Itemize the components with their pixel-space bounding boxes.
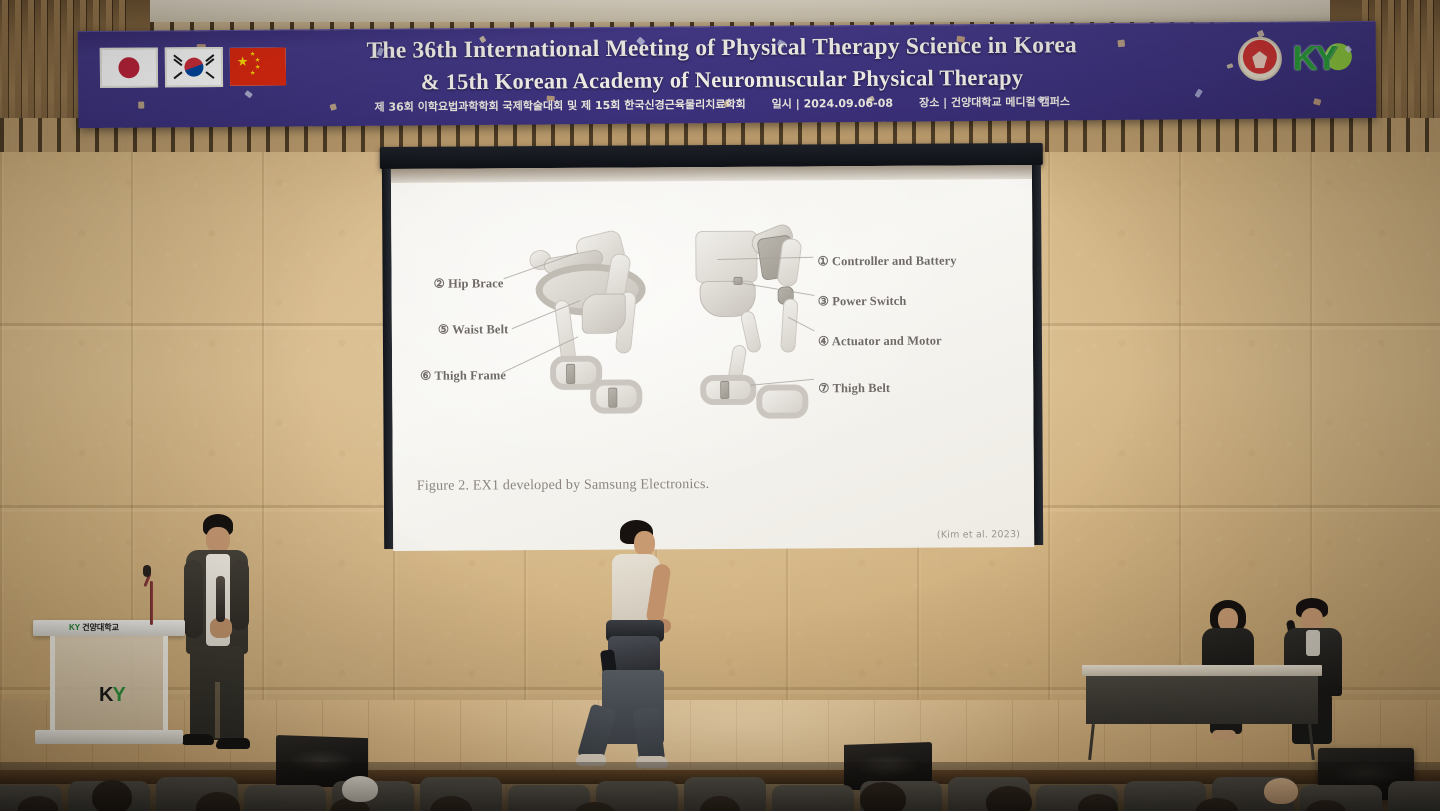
conference-hall-photo: ★ ★ ★ ★ ★ The 36th International Meeting… xyxy=(0,0,1440,811)
audience-seat xyxy=(772,785,854,811)
panelist-right-shirt xyxy=(1306,630,1320,656)
audience-head xyxy=(342,776,378,802)
panel-table xyxy=(1082,665,1322,765)
slide-label-thigh-frame: ⑥ Thigh Frame xyxy=(420,367,506,384)
presenter-arm-right xyxy=(230,560,249,630)
presenter xyxy=(176,514,256,754)
banner-flags: ★ ★ ★ ★ ★ xyxy=(100,46,286,87)
panel-table-leg-left xyxy=(1088,724,1095,760)
audience-head xyxy=(92,780,132,811)
audience-seat xyxy=(244,785,326,811)
slide-label-waist-belt: ⑤ Waist Belt xyxy=(438,321,509,337)
conference-banner: ★ ★ ★ ★ ★ The 36th International Meeting… xyxy=(78,21,1377,128)
confetti-fleck xyxy=(244,90,253,98)
banner-text-block: The 36th International Meeting of Physic… xyxy=(268,29,1177,115)
podium-ky-logo: KY xyxy=(99,684,125,707)
demonstrator xyxy=(578,520,688,770)
presenter-shoe-right xyxy=(216,738,250,749)
presenter-arm-left xyxy=(184,560,203,638)
exoskeleton-figure-left xyxy=(521,229,702,430)
banner-logos: KY xyxy=(1237,36,1350,81)
confetti-fleck xyxy=(1313,98,1321,106)
banner-date: 일시 | 2024.09.06-08 xyxy=(772,97,893,112)
audience-seat xyxy=(1124,781,1206,811)
panel-table-skirt xyxy=(1086,676,1318,724)
projection-screen: ② Hip Brace⑤ Waist Belt⑥ Thigh Frame① Co… xyxy=(380,143,1045,555)
slide-label-thigh-belt: ⑦ Thigh Belt xyxy=(818,380,890,396)
banner-subtitle-row: 제 36회 이학요법과학학회 국제학술대회 및 제 15회 한국신경근육물리치료… xyxy=(268,94,1176,115)
slide-label-controller-and-battery: ① Controller and Battery xyxy=(817,253,956,270)
podium-body: KY xyxy=(50,636,168,730)
presenter-leg-gap xyxy=(215,682,220,738)
audience-head xyxy=(986,786,1032,811)
audience-rows xyxy=(0,762,1440,811)
slide-label-hip-brace: ② Hip Brace xyxy=(434,275,504,291)
confetti-fleck xyxy=(1226,63,1233,69)
gooseneck-microphone xyxy=(140,565,164,625)
screen-surface: ② Hip Brace⑤ Waist Belt⑥ Thigh Frame① Co… xyxy=(391,165,1034,551)
ky-university-logo-icon: KY xyxy=(1293,41,1350,75)
audience-seat xyxy=(1388,781,1440,811)
podium-base xyxy=(35,730,183,744)
slide-label-actuator-and-motor: ④ Actuator and Motor xyxy=(818,333,942,350)
japan-flag xyxy=(100,47,158,87)
confetti-fleck xyxy=(138,102,144,109)
panel-table-top xyxy=(1082,665,1322,676)
slide-caption: Figure 2. EX1 developed by Samsung Elect… xyxy=(417,477,710,495)
podium-top-logo: KY 건양대학교 xyxy=(69,622,119,633)
handheld-microphone-icon xyxy=(216,576,225,622)
banner-venue: 장소 | 건양대학교 메디컬 캠퍼스 xyxy=(919,95,1070,110)
banner-subtitle-korean: 제 36회 이학요법과학학회 국제학술대회 및 제 15회 한국신경근육물리치료… xyxy=(374,98,745,115)
presentation-slide: ② Hip Brace⑤ Waist Belt⑥ Thigh Frame① Co… xyxy=(391,179,1034,551)
podium: KY 건양대학교 KY xyxy=(33,620,185,746)
demonstrator-face xyxy=(634,531,655,556)
south-korea-flag xyxy=(165,47,223,87)
presenter-shoe-left xyxy=(182,734,214,745)
slide-citation: (Kim et al. 2023) xyxy=(937,529,1020,541)
audience-head xyxy=(860,782,906,811)
panel-table-leg-right xyxy=(1308,724,1315,760)
ceiling-grille-top xyxy=(150,0,1330,22)
society-emblem-icon xyxy=(1237,37,1281,81)
audience-head xyxy=(1264,778,1298,804)
slide-label-power-switch: ③ Power Switch xyxy=(818,293,907,310)
confetti-fleck xyxy=(1194,89,1202,98)
